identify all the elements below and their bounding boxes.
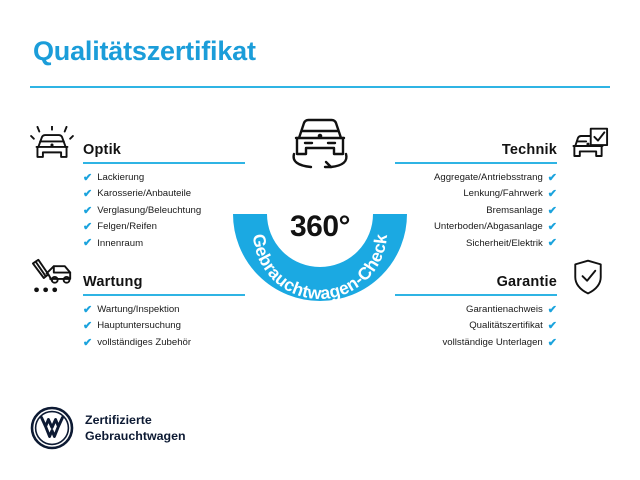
check-icon: ✔ [83, 206, 92, 217]
section-garantie-divider [395, 294, 557, 296]
list-item-label: Qualitätszertifikat [469, 318, 543, 334]
list-item-label: Unterboden/Abgasanlage [434, 219, 543, 235]
section-optik-title: Optik [83, 142, 121, 158]
footer-text: Zertifizierte Gebrauchtwagen [85, 412, 186, 444]
title-divider [30, 86, 610, 88]
check-icon: ✔ [548, 305, 557, 316]
footer-line-1: Zertifizierte [85, 412, 186, 428]
list-item: Qualitätszertifikat✔ [370, 318, 557, 334]
check-icon: ✔ [548, 222, 557, 233]
list-item-label: Karosserie/Anbauteile [97, 186, 191, 202]
list-item-label: Aggregate/Antriebsstrang [434, 170, 543, 186]
section-wartung-title: Wartung [83, 274, 143, 290]
list-item-label: Felgen/Reifen [97, 219, 157, 235]
certificate-page: Qualitätszertifikat Optik [0, 0, 640, 480]
list-item-label: Lackierung [97, 170, 144, 186]
check-icon: ✔ [548, 238, 557, 249]
section-optik-divider [83, 162, 245, 164]
list-item: ✔vollständiges Zubehör [83, 335, 270, 351]
list-item-label: Innenraum [97, 236, 143, 252]
section-wartung-divider [83, 294, 245, 296]
list-item: vollständige Unterlagen✔ [370, 335, 557, 351]
check-icon: ✔ [548, 189, 557, 200]
list-item-label: vollständiges Zubehör [97, 335, 191, 351]
footer-brand: Zertifizierte Gebrauchtwagen [30, 406, 186, 450]
list-item-label: Verglasung/Beleuchtung [97, 203, 201, 219]
check-icon: ✔ [83, 321, 92, 332]
footer-line-2: Gebrauchtwagen [85, 428, 186, 444]
check-icon: ✔ [83, 222, 92, 233]
check-icon: ✔ [83, 305, 92, 316]
page-title: Qualitätszertifikat [33, 36, 256, 67]
badge-360-gebrauchtwagen-check: Gebrauchtwagen-Check 360° [228, 112, 412, 312]
check-icon: ✔ [83, 338, 92, 349]
check-icon: ✔ [83, 189, 92, 200]
check-icon: ✔ [548, 321, 557, 332]
list-item-label: Sicherheit/Elektrik [466, 236, 543, 252]
section-garantie-title: Garantie [497, 274, 557, 290]
vw-logo [30, 406, 74, 450]
check-icon: ✔ [548, 338, 557, 349]
list-item-label: Wartung/Inspektion [97, 302, 179, 318]
list-item: ✔Hauptuntersuchung [83, 318, 270, 334]
check-icon: ✔ [83, 238, 92, 249]
list-item-label: vollständige Unterlagen [443, 335, 543, 351]
check-icon: ✔ [83, 173, 92, 184]
check-icon: ✔ [548, 206, 557, 217]
list-item-label: Hauptuntersuchung [97, 318, 181, 334]
list-item-label: Bremsanlage [486, 203, 543, 219]
check-icon: ✔ [548, 173, 557, 184]
list-item-label: Lenkung/Fahrwerk [463, 186, 542, 202]
badge-degrees: 360° [228, 210, 412, 244]
section-technik-title: Technik [502, 142, 557, 158]
section-technik-divider [395, 162, 557, 164]
list-item-label: Garantienachweis [466, 302, 543, 318]
